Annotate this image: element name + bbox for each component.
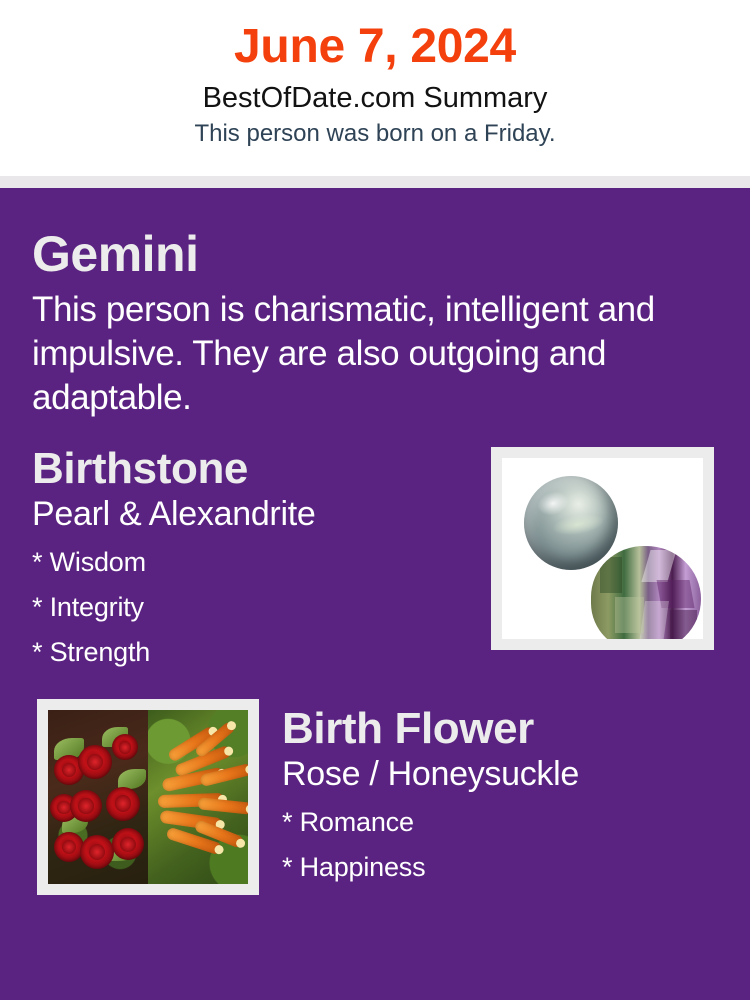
- birth-flower-title: Birth Flower: [282, 704, 750, 754]
- list-item: * Romance: [282, 800, 750, 845]
- list-item: * Integrity: [32, 585, 491, 630]
- rose-icon: [78, 745, 112, 779]
- site-name: BestOfDate.com Summary: [0, 79, 750, 117]
- header-divider: [0, 176, 750, 188]
- rose-icon: [70, 790, 102, 822]
- list-item: * Happiness: [282, 845, 750, 890]
- birth-flower-photo-frame: [37, 699, 259, 895]
- rose-and-honeysuckle-photo: [48, 710, 248, 884]
- list-item: * Strength: [32, 630, 491, 675]
- birth-flower-trait-list: * Romance * Happiness: [282, 800, 750, 890]
- zodiac-sign-name: Gemini: [32, 226, 750, 282]
- rose-icon: [106, 787, 140, 821]
- birth-flower-section: Birth Flower Rose / Honeysuckle * Romanc…: [0, 699, 750, 895]
- rose-icon: [112, 734, 138, 760]
- zodiac-section: Gemini This person is charismatic, intel…: [0, 188, 750, 420]
- page-title-date: June 7, 2024: [0, 16, 750, 78]
- page-header: June 7, 2024 BestOfDate.com Summary This…: [0, 0, 750, 176]
- birth-flower-text-block: Birth Flower Rose / Honeysuckle * Romanc…: [259, 699, 750, 890]
- birthstone-trait-list: * Wisdom * Integrity * Strength: [32, 540, 491, 675]
- list-item: * Wisdom: [32, 540, 491, 585]
- honeysuckle-bloom-icon: [198, 798, 248, 816]
- gem-facet: [641, 550, 677, 582]
- rose-icon: [54, 832, 84, 862]
- birthstone-photo-frame: [491, 447, 714, 650]
- summary-panel: Gemini This person is charismatic, intel…: [0, 188, 750, 1000]
- zodiac-description: This person is charismatic, intelligent …: [32, 288, 722, 420]
- gem-facet: [615, 597, 644, 633]
- birthstone-section: Birthstone Pearl & Alexandrite * Wisdom …: [0, 444, 750, 675]
- gem-facet: [670, 610, 696, 639]
- birthstone-title: Birthstone: [32, 444, 491, 494]
- birthstone-subtitle: Pearl & Alexandrite: [32, 494, 491, 534]
- rose-icon: [80, 835, 114, 869]
- rose-icon: [112, 828, 144, 860]
- honeysuckle-photo-half: [148, 710, 248, 884]
- rose-photo-half: [48, 710, 148, 884]
- birth-day-note: This person was born on a Friday.: [0, 118, 750, 150]
- gem-facet: [600, 557, 622, 593]
- birth-flower-subtitle: Rose / Honeysuckle: [282, 754, 750, 794]
- alexandrite-gem-icon: [591, 546, 701, 639]
- honeysuckle-bloom-icon: [199, 763, 248, 787]
- birthstone-text-block: Birthstone Pearl & Alexandrite * Wisdom …: [32, 444, 491, 675]
- flower-split-image: [48, 710, 248, 884]
- pearl-and-alexandrite-photo: [502, 458, 703, 639]
